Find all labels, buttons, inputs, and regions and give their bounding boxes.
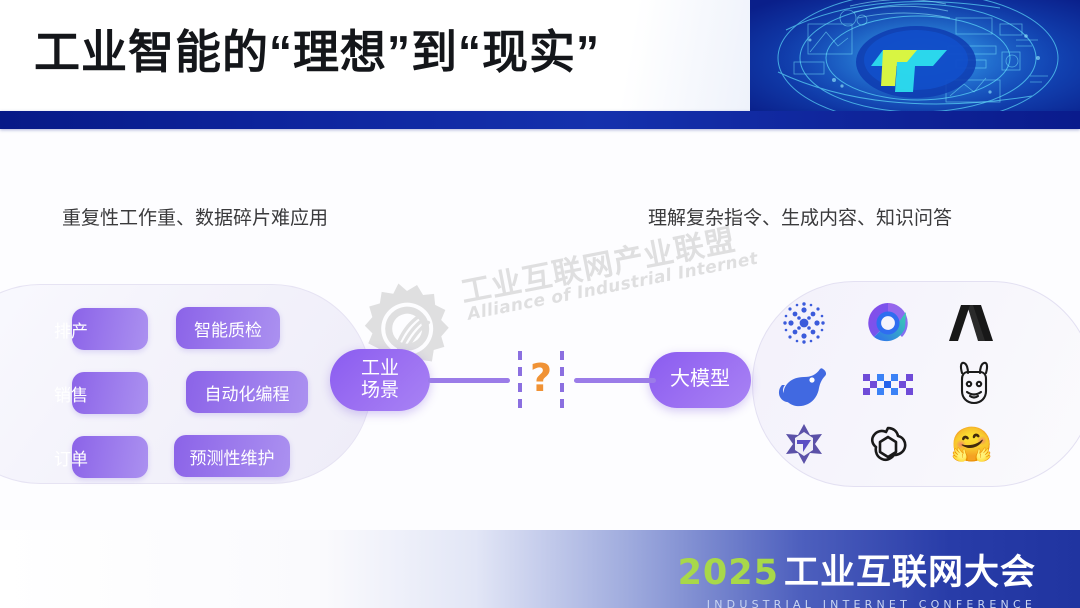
scenario-pill[interactable]: 智能质检 — [176, 307, 280, 349]
scenario-pill[interactable]: 排产 — [72, 308, 148, 350]
llama-logo — [946, 358, 1002, 408]
ai-logo-grid: 🤗 — [768, 298, 1008, 468]
conference-title-cn: 工业互联网大会 — [784, 544, 1036, 595]
question-mark: ? — [527, 349, 555, 407]
connector-dash-right — [560, 351, 564, 409]
huggingface-logo: 🤗 — [944, 420, 1000, 470]
node-industrial-scenario[interactable]: 工业 场景 — [330, 349, 430, 411]
scenario-pill[interactable]: 自动化编程 — [186, 371, 308, 413]
anthropic-logo — [944, 298, 1000, 348]
deepseek-logo — [774, 360, 830, 410]
connector-dash-left — [518, 351, 522, 409]
node-line-1: 工业 — [361, 358, 399, 380]
scenario-pill-label: 预测性维护 — [190, 444, 275, 469]
node-line-1: 大模型 — [670, 368, 730, 392]
scenario-pill-label: 订单 — [54, 445, 88, 470]
scenario-pill-label: 自动化编程 — [205, 380, 290, 405]
header-accent-bar — [0, 111, 1080, 129]
page-title: 工业智能的“理想”到“现实” — [34, 22, 600, 82]
scenario-pill[interactable]: 预测性维护 — [174, 435, 290, 477]
scenario-pill-label: 智能质检 — [194, 316, 262, 341]
connector-line-left — [428, 378, 510, 383]
watermark-en: Alliance of Industrial Internet — [466, 249, 760, 325]
conference-logo: 2025 工业互联网大会 INDUSTRIAL INTERNET CONFERE… — [678, 544, 1036, 608]
zhipu-glm-logo — [776, 420, 832, 470]
openai-logo — [860, 420, 916, 470]
huggingface-glyph: 🤗 — [951, 428, 993, 462]
mistral-logo — [860, 360, 916, 410]
scenario-pill[interactable]: 订单 — [72, 436, 148, 478]
scenario-pill[interactable]: 销售 — [72, 372, 148, 414]
connector: ? — [428, 377, 654, 383]
caption-right: 理解复杂指令、生成内容、知识问答 — [648, 203, 952, 230]
qwen-logo — [776, 298, 832, 348]
tech-circuit-graphic — [750, 0, 1080, 112]
slide-header: 工业智能的“理想”到“现实” — [0, 0, 1080, 112]
caption-left: 重复性工作重、数据碎片难应用 — [62, 203, 328, 230]
slide-footer: 2025 工业互联网大会 INDUSTRIAL INTERNET CONFERE… — [0, 530, 1080, 608]
slide-root: 工业智能的“理想”到“现实” — [0, 0, 1080, 608]
scenario-pill-label: 销售 — [54, 381, 88, 406]
scenario-pill-label: 排产 — [54, 317, 88, 342]
doubao-logo — [860, 298, 916, 348]
connector-line-right — [574, 378, 656, 383]
node-large-model[interactable]: 大模型 — [649, 352, 751, 408]
conference-subtitle-en: INDUSTRIAL INTERNET CONFERENCE — [678, 598, 1036, 608]
node-line-2: 场景 — [361, 380, 399, 402]
conference-year: 2025 — [678, 553, 779, 593]
